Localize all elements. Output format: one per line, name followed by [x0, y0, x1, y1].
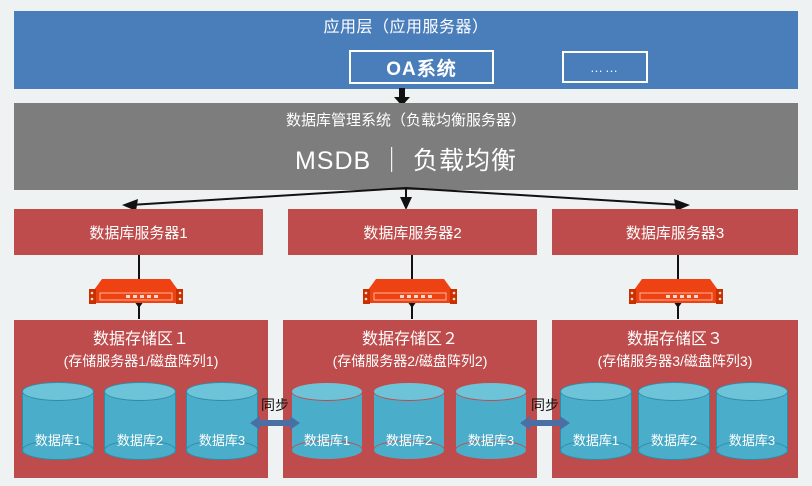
more-systems-box[interactable]: ……	[562, 51, 648, 83]
storage-area-title-2: 数据存储区２	[283, 329, 537, 350]
database-cylinder-label-3-2: 数据库2	[638, 432, 710, 449]
sync-link-1[interactable]: 同步	[248, 396, 302, 442]
dbms-layer-title: 数据库管理系统（负载均衡服务器）	[14, 111, 798, 131]
sync-link-2[interactable]: 同步	[518, 396, 572, 442]
database-cylinder-3-2[interactable]: 数据库2	[638, 382, 710, 462]
application-systems-group: OA系统 ……	[14, 50, 798, 84]
application-layer-panel: 应用层（应用服务器） OA系统 ……	[14, 11, 798, 89]
sync-arrow-bar-1	[259, 420, 291, 426]
sync-label-1: 同步	[248, 396, 302, 414]
database-cylinder-group-1: 数据库1 数据库2 数据库3	[14, 382, 268, 472]
database-cylinder-1-1[interactable]: 数据库1	[22, 382, 94, 462]
storage-area-box-2[interactable]: 数据存储区２ (存储服务器2/磁盘阵列2) 数据库1 数据库2 数据库3	[283, 320, 537, 478]
database-server-box-2[interactable]: 数据库服务器2	[288, 209, 537, 255]
storage-area-subtitle-2: (存储服务器2/磁盘阵列2)	[283, 352, 537, 371]
storage-area-subtitle-3: (存储服务器3/磁盘阵列3)	[552, 352, 798, 371]
database-server-box-1[interactable]: 数据库服务器1	[14, 209, 263, 255]
database-cylinder-group-2: 数据库1 数据库2 数据库3	[283, 382, 537, 472]
sync-arrowhead-right-1	[290, 416, 300, 430]
database-cylinder-2-3[interactable]: 数据库3	[455, 382, 527, 462]
sync-arrowhead-left-2	[520, 416, 530, 430]
database-cylinder-label-3-3: 数据库3	[716, 432, 788, 449]
database-server-label-2: 数据库服务器2	[363, 222, 461, 243]
sync-arrowhead-left-1	[250, 416, 260, 430]
rack-server-icon-2	[362, 276, 458, 306]
database-cylinder-label-1-1: 数据库1	[22, 432, 94, 449]
more-systems-label: ……	[590, 60, 620, 75]
database-cylinder-label-2-3: 数据库3	[455, 432, 527, 449]
dbms-layer-panel: 数据库管理系统（负载均衡服务器） MSDB ｜ 负载均衡	[14, 103, 798, 190]
database-cylinder-3-3[interactable]: 数据库3	[716, 382, 788, 462]
database-server-box-3[interactable]: 数据库服务器3	[552, 209, 798, 255]
storage-area-title-1: 数据存储区１	[14, 329, 268, 350]
sync-arrowhead-right-2	[560, 416, 570, 430]
database-server-label-3: 数据库服务器3	[626, 222, 724, 243]
oa-system-box[interactable]: OA系统	[349, 50, 494, 84]
storage-area-box-3[interactable]: 数据存储区３ (存储服务器3/磁盘阵列3) 数据库1 数据库2 数据库3	[552, 320, 798, 478]
rack-server-icon-1	[88, 276, 184, 306]
storage-area-box-1[interactable]: 数据存储区１ (存储服务器1/磁盘阵列1) 数据库1 数据库2 数据库3	[14, 320, 268, 478]
oa-system-label: OA系统	[386, 54, 457, 81]
database-cylinder-1-2[interactable]: 数据库2	[104, 382, 176, 462]
storage-area-subtitle-1: (存储服务器1/磁盘阵列1)	[14, 352, 268, 371]
database-cylinder-label-1-2: 数据库2	[104, 432, 176, 449]
sync-label-2: 同步	[518, 396, 572, 414]
sync-arrow-bar-2	[529, 420, 561, 426]
architecture-diagram: 应用层（应用服务器） OA系统 …… 数据库管理系统（负载均衡服务器） MSDB…	[0, 0, 812, 486]
database-cylinder-label-2-2: 数据库2	[373, 432, 445, 449]
database-cylinder-group-3: 数据库1 数据库2 数据库3	[552, 382, 798, 472]
database-server-label-1: 数据库服务器1	[89, 222, 187, 243]
database-cylinder-2-2[interactable]: 数据库2	[373, 382, 445, 462]
application-layer-title: 应用层（应用服务器）	[14, 17, 798, 39]
storage-area-title-3: 数据存储区３	[552, 329, 798, 350]
dbms-layer-subtitle: MSDB ｜ 负载均衡	[14, 145, 798, 177]
rack-server-icon-3	[628, 276, 724, 306]
